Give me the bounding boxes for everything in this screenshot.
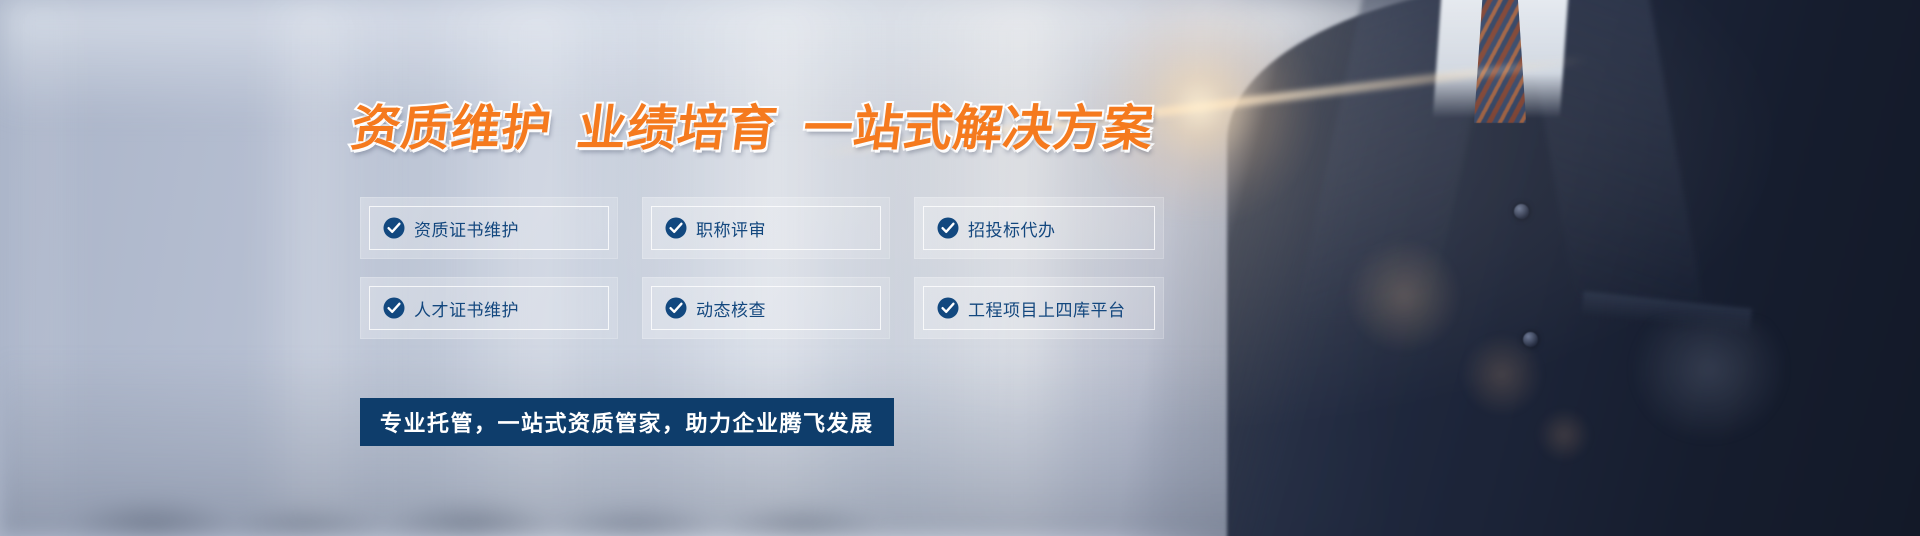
feature-card[interactable]: 职称评审 <box>642 197 890 259</box>
feature-label: 资质证书维护 <box>414 216 519 241</box>
check-circle-icon <box>937 217 959 239</box>
feature-label: 工程项目上四库平台 <box>968 296 1126 321</box>
banner-content: 资质维护业绩培育一站式解决方案 资质证书维护 <box>0 0 1920 536</box>
feature-card[interactable]: 工程项目上四库平台 <box>914 277 1164 339</box>
feature-card-inner: 职称评审 <box>651 206 881 250</box>
feature-card[interactable]: 动态核查 <box>642 277 890 339</box>
banner-headline: 资质维护业绩培育一站式解决方案 <box>348 89 1159 160</box>
feature-card-inner: 资质证书维护 <box>369 206 609 250</box>
feature-card-inner: 动态核查 <box>651 286 881 330</box>
hero-banner: 资质维护业绩培育一站式解决方案 资质证书维护 <box>0 0 1920 536</box>
check-circle-icon <box>665 297 687 319</box>
tagline-bar: 专业托管，一站式资质管家，助力企业腾飞发展 <box>360 398 894 446</box>
tagline-text: 专业托管，一站式资质管家，助力企业腾飞发展 <box>380 406 874 438</box>
headline-part-1: 资质维护 <box>348 100 555 157</box>
feature-row-1: 资质证书维护 职称评审 <box>360 197 1190 259</box>
feature-label: 招投标代办 <box>968 216 1056 241</box>
feature-card[interactable]: 人才证书维护 <box>360 277 618 339</box>
feature-card-inner: 人才证书维护 <box>369 286 609 330</box>
feature-label: 动态核查 <box>696 296 766 321</box>
headline-part-2: 业绩培育 <box>574 100 781 157</box>
feature-card[interactable]: 招投标代办 <box>914 197 1164 259</box>
check-circle-icon <box>937 297 959 319</box>
feature-card[interactable]: 资质证书维护 <box>360 197 618 259</box>
headline-part-3: 一站式解决方案 <box>800 100 1157 157</box>
check-circle-icon <box>383 217 405 239</box>
check-circle-icon <box>665 217 687 239</box>
check-circle-icon <box>383 297 405 319</box>
feature-label: 职称评审 <box>696 216 766 241</box>
feature-row-2: 人才证书维护 动态核查 <box>360 277 1190 339</box>
feature-card-inner: 招投标代办 <box>923 206 1155 250</box>
feature-label: 人才证书维护 <box>414 296 519 321</box>
feature-grid: 资质证书维护 职称评审 <box>360 197 1190 357</box>
feature-card-inner: 工程项目上四库平台 <box>923 286 1155 330</box>
